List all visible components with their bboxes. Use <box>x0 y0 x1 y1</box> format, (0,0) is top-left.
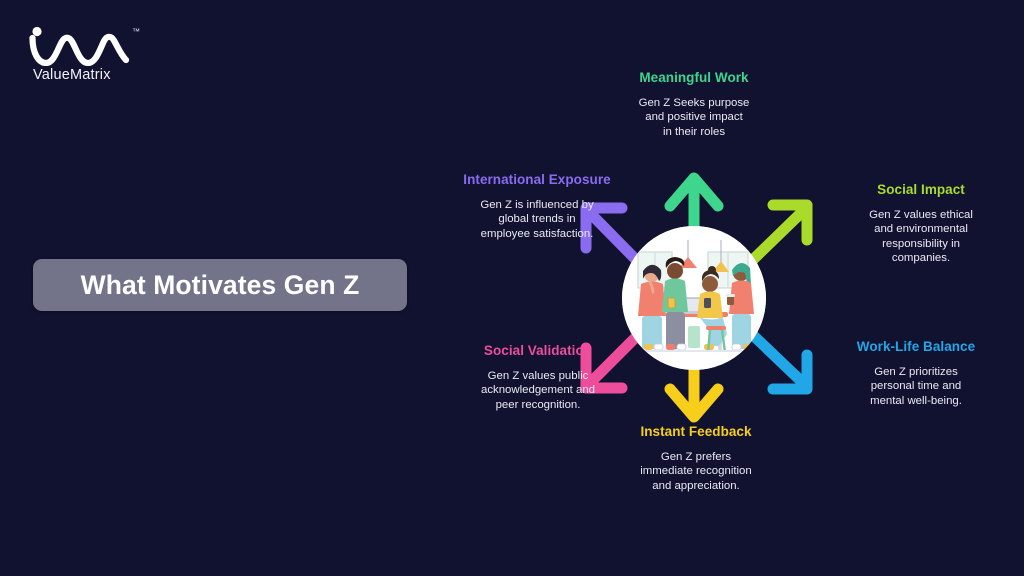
spoke-desc-social-impact: Gen Z values ethical and environmental r… <box>818 208 1024 266</box>
spoke-label-meaningful-work: Meaningful Work <box>558 70 830 85</box>
spoke-desc-line: immediate recognition <box>572 464 820 478</box>
spoke-desc-line: companies. <box>818 251 1024 265</box>
spoke-desc-line: Gen Z is influenced by <box>418 198 656 212</box>
spoke-international-exposure: International Exposure Gen Z is influenc… <box>418 172 656 241</box>
spoke-desc-social-validation: Gen Z values public acknowledgement and … <box>432 369 644 412</box>
motivators-diagram: Meaningful Work Gen Z Seeks purpose and … <box>416 0 1024 576</box>
spoke-desc-line: in their roles <box>558 125 830 139</box>
spoke-desc-line: Gen Z values ethical <box>818 208 1024 222</box>
brand-name: ValueMatrix <box>33 67 111 83</box>
spoke-desc-line: acknowledgement and <box>432 383 644 397</box>
spoke-desc-line: and environmental <box>818 222 1024 236</box>
page-title: What Motivates Gen Z <box>33 259 407 311</box>
spoke-desc-work-life-balance: Gen Z prioritizes personal time and ment… <box>808 365 1024 408</box>
spoke-desc-line: Gen Z values public <box>432 369 644 383</box>
spoke-work-life-balance: Work-Life Balance Gen Z prioritizes pers… <box>808 339 1024 408</box>
spoke-social-impact: Social Impact Gen Z values ethical and e… <box>818 182 1024 266</box>
spoke-instant-feedback: Instant Feedback Gen Z prefers immediate… <box>572 424 820 493</box>
valuematrix-wave-logo-icon <box>28 24 132 66</box>
page-title-text: What Motivates Gen Z <box>81 270 360 301</box>
spoke-label-instant-feedback: Instant Feedback <box>572 424 820 439</box>
spoke-desc-instant-feedback: Gen Z prefers immediate recognition and … <box>572 450 820 493</box>
spoke-label-work-life-balance: Work-Life Balance <box>808 339 1024 354</box>
spoke-label-social-impact: Social Impact <box>818 182 1024 197</box>
brand-logo: ™ ValueMatrix <box>28 24 148 90</box>
spoke-desc-line: personal time and <box>808 379 1024 393</box>
spoke-desc-line: peer recognition. <box>432 398 644 412</box>
spoke-meaningful-work: Meaningful Work Gen Z Seeks purpose and … <box>558 70 830 139</box>
spoke-desc-line: global trends in <box>418 212 656 226</box>
spoke-social-validation: Social Validation Gen Z values public ac… <box>432 343 644 412</box>
spoke-desc-line: and appreciation. <box>572 479 820 493</box>
spoke-label-social-validation: Social Validation <box>432 343 644 358</box>
spoke-desc-line: responsibility in <box>818 237 1024 251</box>
spoke-desc-line: Gen Z prioritizes <box>808 365 1024 379</box>
spoke-desc-line: Gen Z Seeks purpose <box>558 96 830 110</box>
trademark-symbol: ™ <box>132 27 140 36</box>
spoke-desc-international-exposure: Gen Z is influenced by global trends in … <box>418 198 656 241</box>
spoke-desc-line: Gen Z prefers <box>572 450 820 464</box>
spoke-desc-line: mental well-being. <box>808 394 1024 408</box>
spoke-desc-line: and positive impact <box>558 110 830 124</box>
spoke-label-international-exposure: International Exposure <box>418 172 656 187</box>
spoke-desc-meaningful-work: Gen Z Seeks purpose and positive impact … <box>558 96 830 139</box>
spoke-desc-line: employee satisfaction. <box>418 227 656 241</box>
